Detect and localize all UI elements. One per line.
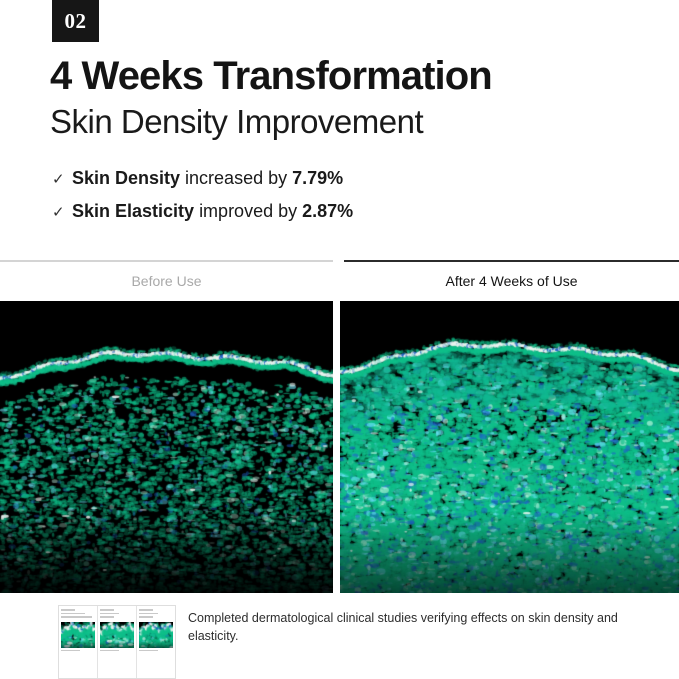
thumbnail-text-line (61, 650, 80, 652)
footer-caption: Completed dermatological clinical studie… (188, 610, 650, 646)
thumbnail-scan-canvas (61, 622, 95, 648)
after-label: After 4 Weeks of Use (344, 262, 679, 300)
comparison-header: Before Use After 4 Weeks of Use (0, 260, 679, 301)
benefit-value: 2.87% (302, 201, 353, 222)
thumbnail-column (98, 606, 137, 678)
benefit-verb: improved by (194, 201, 302, 222)
thumbnail-text-line (61, 609, 75, 611)
ultrasound-image-after (340, 301, 679, 593)
thumbnail-text-line (100, 616, 114, 618)
thumbnail-text-line (139, 616, 153, 618)
benefit-metric-label: Skin Density (72, 168, 180, 189)
benefit-metric-label: Skin Elasticity (72, 201, 194, 222)
check-icon: ✓ (52, 172, 72, 187)
thumbnail-text-line (100, 613, 119, 615)
benefit-value: 7.79% (292, 168, 343, 189)
thumbnail-text-line (61, 613, 85, 615)
thumbnail-scan-canvas (100, 622, 134, 648)
thumbnail-scan-canvas (139, 622, 173, 648)
comparison-column-after: After 4 Weeks of Use (344, 260, 679, 301)
thumbnail-column (59, 606, 98, 678)
thumbnail-scan-image (139, 622, 173, 648)
page-subtitle: Skin Density Improvement (50, 104, 423, 141)
thumbnail-text-line (139, 609, 153, 611)
list-item: ✓ Skin Density increased by 7.79% (52, 168, 353, 201)
benefit-verb: increased by (180, 168, 292, 189)
thumbnail-text-line (100, 650, 119, 652)
thumbnail-text-line (61, 616, 92, 618)
check-icon: ✓ (52, 205, 72, 220)
thumbnail-text-line (139, 613, 158, 615)
before-label: Before Use (0, 262, 333, 300)
benefits-list: ✓ Skin Density increased by 7.79% ✓ Skin… (52, 168, 353, 234)
thumbnail-column (137, 606, 175, 678)
ultrasound-canvas-after (340, 301, 679, 593)
page-title: 4 Weeks Transformation (50, 56, 492, 96)
ultrasound-image-before (0, 301, 333, 593)
thumbnail-text-line (100, 609, 114, 611)
step-number-text: 02 (65, 9, 87, 34)
thumbnail-scan-image (100, 622, 134, 648)
comparison-column-before: Before Use (0, 260, 333, 301)
ultrasound-canvas-before (0, 301, 333, 593)
step-number-badge: 02 (52, 0, 99, 42)
thumbnail-scan-image (61, 622, 95, 648)
clinical-report-thumbnail (58, 605, 176, 679)
list-item: ✓ Skin Elasticity improved by 2.87% (52, 201, 353, 234)
thumbnail-text-line (139, 650, 158, 652)
